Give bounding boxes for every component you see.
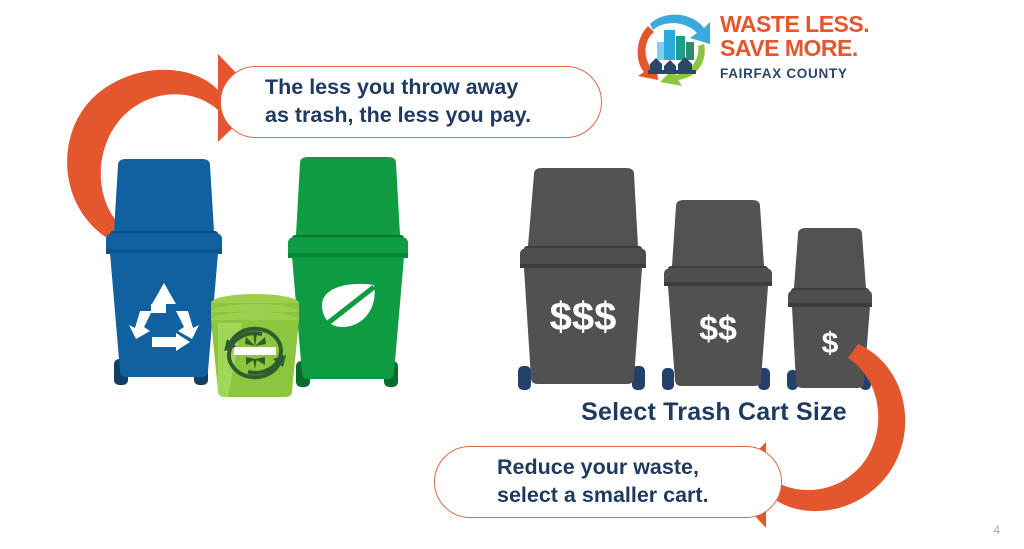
brand-wordmark: WASTE LESS. SAVE MORE. FAIRFAX COUNTY	[720, 13, 869, 80]
callout-top: The less you throw away as trash, the le…	[220, 66, 602, 138]
recycling-bins-group	[96, 155, 436, 405]
callout-bottom-line-1: Reduce your waste,	[497, 454, 781, 482]
yard-waste-bin	[288, 157, 408, 387]
callout-top-line-2: as trash, the less you pay.	[265, 102, 601, 130]
small-cart: $	[787, 228, 872, 390]
recycling-bin	[106, 159, 222, 385]
small-cart-price: $	[822, 327, 839, 360]
medium-cart-price: $$	[699, 310, 737, 348]
trash-carts-group: $$$ $$ $	[510, 160, 900, 400]
recycling-circle-city-logo-icon	[630, 8, 714, 86]
medium-cart: $$	[662, 200, 772, 390]
callout-bottom-line-2: select a smaller cart.	[497, 482, 781, 510]
select-trash-cart-size-heading: Select Trash Cart Size	[534, 398, 894, 427]
brand-logo: WASTE LESS. SAVE MORE. FAIRFAX COUNTY	[630, 6, 930, 88]
page-number: 4	[993, 523, 1000, 537]
brand-line-2: SAVE MORE.	[720, 37, 869, 61]
callout-top-line-1: The less you throw away	[265, 74, 601, 102]
compost-bucket	[211, 294, 299, 397]
brand-subtitle: FAIRFAX COUNTY	[720, 66, 869, 81]
large-cart: $$$	[518, 168, 646, 390]
slide-canvas: WASTE LESS. SAVE MORE. FAIRFAX COUNTY Th…	[0, 0, 1024, 549]
large-cart-price: $$$	[550, 295, 617, 339]
brand-line-1: WASTE LESS.	[720, 13, 869, 37]
callout-bottom: Reduce your waste, select a smaller cart…	[434, 446, 782, 518]
